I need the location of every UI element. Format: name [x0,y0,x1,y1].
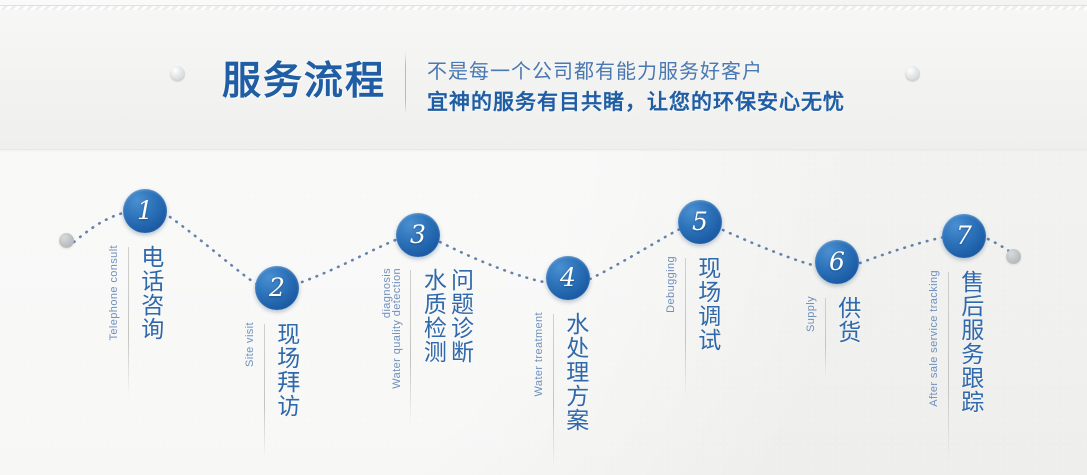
flow-label-en: Water quality detection [391,268,404,389]
flow-label-en: Supply [805,296,818,332]
flow-label-cn: 水处理方案 [561,312,588,432]
banner-subtitle-line2: 宜神的服务有目共睹，让您的环保安心无忧 [427,86,845,116]
banner-top-stripe [0,6,1087,10]
page-title: 服务流程 [222,50,386,106]
flow-label-cn: 现场拜访 [272,322,299,418]
flow-label-1: Telephone consult 电话咨询 [108,245,163,405]
flow-node-number: 1 [123,189,167,233]
flow-label-7: After sale service tracking 售后服务跟踪 [928,270,983,470]
flow-label-6: Supply 供货 [805,296,860,386]
flow-node-number: 6 [815,240,859,284]
flow-label-cn: 现场调试 [693,256,720,352]
flow-node-6[interactable]: 6 [815,240,859,284]
flow-end-dot [1006,249,1021,264]
banner-subtitle-line1: 不是每一个公司都有能力服务好客户 [427,55,763,84]
flow-label-en: After sale service tracking [928,270,941,407]
flow-node-number: 5 [678,200,722,244]
flow-node-number: 4 [546,256,590,300]
flow-start-dot [59,233,74,248]
flow-label-2: Site visit 现场拜访 [244,322,299,467]
service-flow-diagram: 1 Telephone consult 电话咨询 2 Site visit 现场… [0,150,1087,475]
page-root: 服务流程 不是每一个公司都有能力服务好客户 宜神的服务有目共睹，让您的环保安心无… [0,0,1087,475]
flow-label-cn: 问题诊断 [445,268,472,364]
flow-node-number: 3 [396,213,440,257]
flow-node-number: 7 [942,214,986,258]
flow-node-number: 2 [255,266,299,310]
flow-label-3: diagnosis Water quality detection 水质检测 问… [381,268,473,433]
flow-label-rule [948,272,949,462]
flow-label-en: Site visit [244,322,257,367]
banner-divider [405,52,406,114]
flow-label-rule [553,314,554,469]
flow-label-cn-secondary: 水质检测 [418,268,445,364]
flow-node-1[interactable]: 1 [123,189,167,233]
flow-label-cn: 售后服务跟踪 [956,270,983,414]
flow-node-4[interactable]: 4 [546,256,590,300]
flow-node-7[interactable]: 7 [942,214,986,258]
screw-left-icon [170,66,185,81]
flow-node-2[interactable]: 2 [255,266,299,310]
flow-label-cn: 电话咨询 [136,245,163,341]
flow-label-cn: 供货 [833,296,860,344]
flow-label-4: Water treatment 水处理方案 [533,312,588,475]
flow-label-en: Telephone consult [108,245,121,340]
screw-right-icon [905,66,920,81]
flow-label-rule [264,324,265,459]
flow-label-rule [825,298,826,378]
flow-label-rule [410,270,411,425]
flow-label-en: Debugging [665,256,678,313]
flow-label-rule [128,247,129,397]
flow-node-5[interactable]: 5 [678,200,722,244]
flow-label-en: Water treatment [533,312,546,396]
flow-node-3[interactable]: 3 [396,213,440,257]
flow-label-rule [685,258,686,398]
flow-label-5: Debugging 现场调试 [665,256,720,406]
